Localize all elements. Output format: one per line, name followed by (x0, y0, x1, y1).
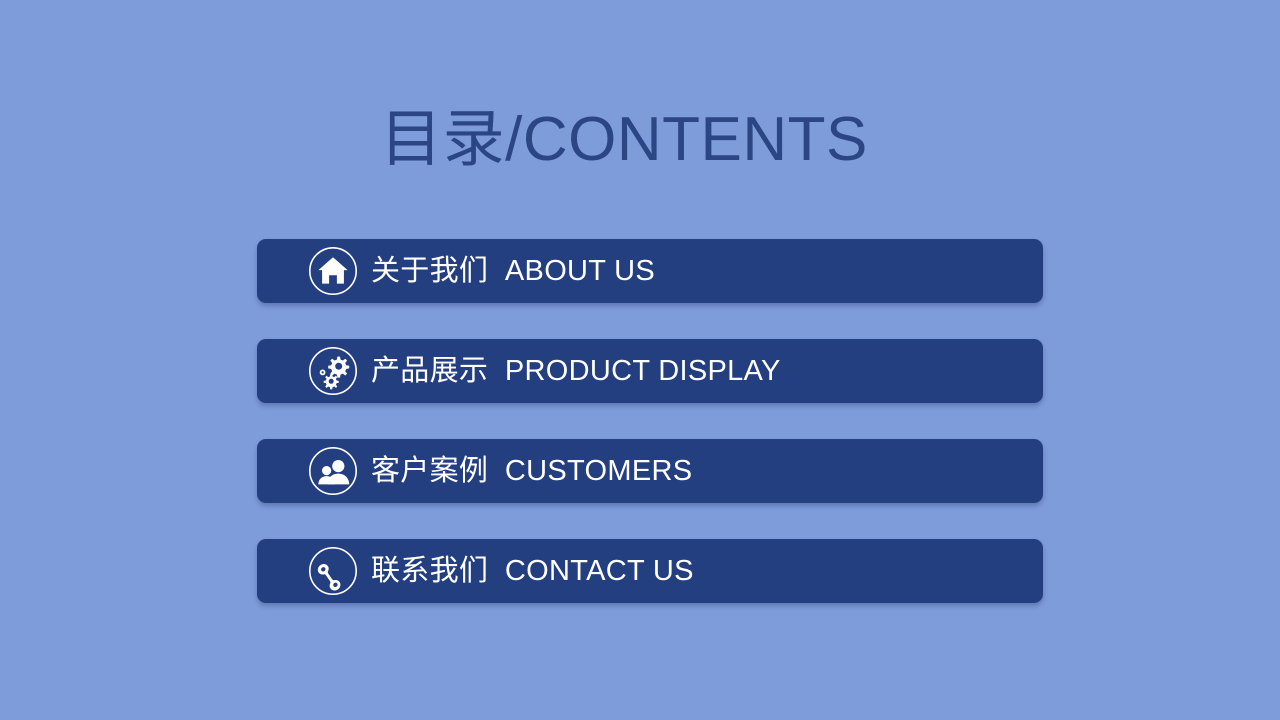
menu-item-product-display[interactable]: 产品展示 PRODUCT DISPLAY (257, 339, 1043, 403)
people-icon (307, 445, 359, 497)
slide-canvas: 目录/CONTENTS 关于我们 ABOUT US (0, 0, 1280, 720)
menu-item-about-us[interactable]: 关于我们 ABOUT US (257, 239, 1043, 303)
gears-icon (307, 345, 359, 397)
page-title: 目录/CONTENTS (0, 97, 1248, 183)
phone-icon (307, 545, 359, 597)
home-icon (307, 245, 359, 297)
menu-item-customers[interactable]: 客户案例 CUSTOMERS (257, 439, 1043, 503)
menu-item-label: 客户案例 CUSTOMERS (371, 454, 1043, 488)
menu-item-contact-us[interactable]: 联系我们 CONTACT US (257, 539, 1043, 603)
contents-menu-list: 关于我们 ABOUT US (257, 239, 1043, 603)
menu-item-label: 关于我们 ABOUT US (371, 254, 1043, 288)
menu-item-label: 产品展示 PRODUCT DISPLAY (371, 354, 1043, 388)
menu-item-label: 联系我们 CONTACT US (371, 554, 1043, 588)
